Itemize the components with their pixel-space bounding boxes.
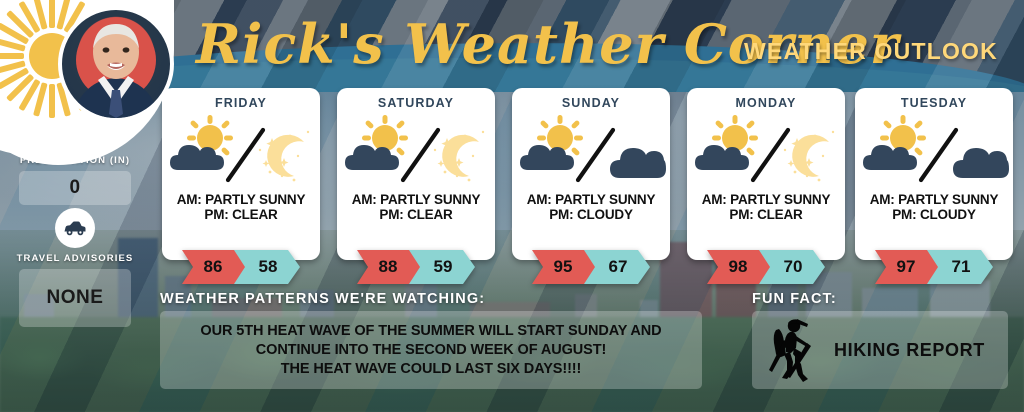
meteorologist-portrait — [62, 10, 170, 118]
forecast-day-label: SATURDAY — [337, 96, 495, 110]
fun-fact-title: FUN FACT: — [752, 291, 837, 307]
forecast-description: AM: PARTLY SUNNY PM: CLEAR — [162, 192, 320, 222]
weather-patterns-box: OUR 5TH HEAT WAVE OF THE SUMMER WILL STA… — [160, 311, 702, 389]
sun-behind-cloud-icon — [345, 115, 408, 170]
sun-behind-cloud-icon — [170, 115, 233, 170]
avatar — [58, 6, 174, 122]
forecast-day-label: MONDAY — [687, 96, 845, 110]
slash-divider — [578, 130, 613, 180]
forecast-day-label: TUESDAY — [855, 96, 1013, 110]
crescent-moon-stars-icon — [784, 131, 834, 182]
slash-divider — [753, 130, 788, 180]
forecast-description: AM: PARTLY SUNNY PM: CLOUDY — [512, 192, 670, 222]
sun-behind-cloud-icon — [520, 115, 583, 170]
slash-divider — [403, 130, 438, 180]
car-icon — [55, 208, 95, 248]
forecast-card[interactable]: TUESDAY — [855, 88, 1013, 260]
travel-advisories-block: TRAVEL ADVISORIES NONE — [0, 208, 150, 327]
forecast-description: AM: PARTLY SUNNY PM: CLEAR — [337, 192, 495, 222]
precipitation-value: 0 — [19, 171, 131, 205]
fun-fact-box: HIKING REPORT — [752, 311, 1008, 389]
crescent-moon-stars-icon — [259, 131, 309, 182]
weather-patterns-text: OUR 5TH HEAT WAVE OF THE SUMMER WILL STA… — [200, 322, 661, 379]
forecast-description: AM: PARTLY SUNNY PM: CLOUDY — [855, 192, 1013, 222]
forecast-icon-pair — [687, 114, 845, 186]
forecast-day-label: FRIDAY — [162, 96, 320, 110]
forecast-pm-label: PM: CLOUDY — [512, 207, 670, 222]
slash-divider — [228, 130, 263, 180]
forecast-icon-pair — [162, 114, 320, 186]
temperature-badge: 86 58 — [182, 250, 300, 284]
weather-graphic: Rick's Weather Corner WEATHER OUTLOOK PR… — [0, 0, 1024, 412]
forecast-am-label: AM: PARTLY SUNNY — [687, 192, 845, 207]
forecast-am-label: AM: PARTLY SUNNY — [337, 192, 495, 207]
crescent-moon-stars-icon — [434, 131, 484, 182]
fun-fact-text: HIKING REPORT — [834, 340, 985, 361]
forecast-am-label: AM: PARTLY SUNNY — [162, 192, 320, 207]
forecast-am-label: AM: PARTLY SUNNY — [855, 192, 1013, 207]
forecast-card-row: FRIDAY — [150, 88, 1024, 284]
forecast-description: AM: PARTLY SUNNY PM: CLEAR — [687, 192, 845, 222]
forecast-day-label: SUNDAY — [512, 96, 670, 110]
sun-behind-cloud-icon — [863, 115, 926, 170]
travel-advisories-value: NONE — [19, 269, 131, 327]
forecast-card[interactable]: SUNDAY — [512, 88, 670, 260]
weather-outlook-label: WEATHER OUTLOOK — [744, 38, 998, 65]
temperature-badge: 95 67 — [532, 250, 650, 284]
forecast-card[interactable]: SATURDAY — [337, 88, 495, 260]
forecast-card[interactable]: FRIDAY — [162, 88, 320, 260]
patterns-line-2: CONTINUE INTO THE SECOND WEEK OF AUGUST! — [200, 341, 661, 360]
forecast-icon-pair — [337, 114, 495, 186]
forecast-pm-label: PM: CLOUDY — [855, 207, 1013, 222]
forecast-pm-label: PM: CLEAR — [687, 207, 845, 222]
travel-advisories-label: TRAVEL ADVISORIES — [0, 253, 150, 264]
forecast-card[interactable]: MONDAY — [687, 88, 845, 260]
slash-divider — [921, 130, 956, 180]
forecast-pm-label: PM: CLEAR — [337, 207, 495, 222]
weather-patterns-title: WEATHER PATTERNS WE'RE WATCHING: — [160, 291, 485, 307]
forecast-icon-pair — [855, 114, 1013, 186]
temperature-badge: 88 59 — [357, 250, 475, 284]
sun-behind-cloud-icon — [695, 115, 758, 170]
hiker-icon — [764, 316, 824, 384]
cloud-icon — [953, 148, 1009, 178]
forecast-icon-pair — [512, 114, 670, 186]
temperature-badge: 97 71 — [875, 250, 993, 284]
patterns-line-1: OUR 5TH HEAT WAVE OF THE SUMMER WILL STA… — [200, 322, 661, 341]
patterns-line-3: THE HEAT WAVE COULD LAST SIX DAYS!!!! — [200, 360, 661, 379]
cloud-icon — [610, 148, 666, 178]
forecast-pm-label: PM: CLEAR — [162, 207, 320, 222]
temperature-badge: 98 70 — [707, 250, 825, 284]
forecast-am-label: AM: PARTLY SUNNY — [512, 192, 670, 207]
